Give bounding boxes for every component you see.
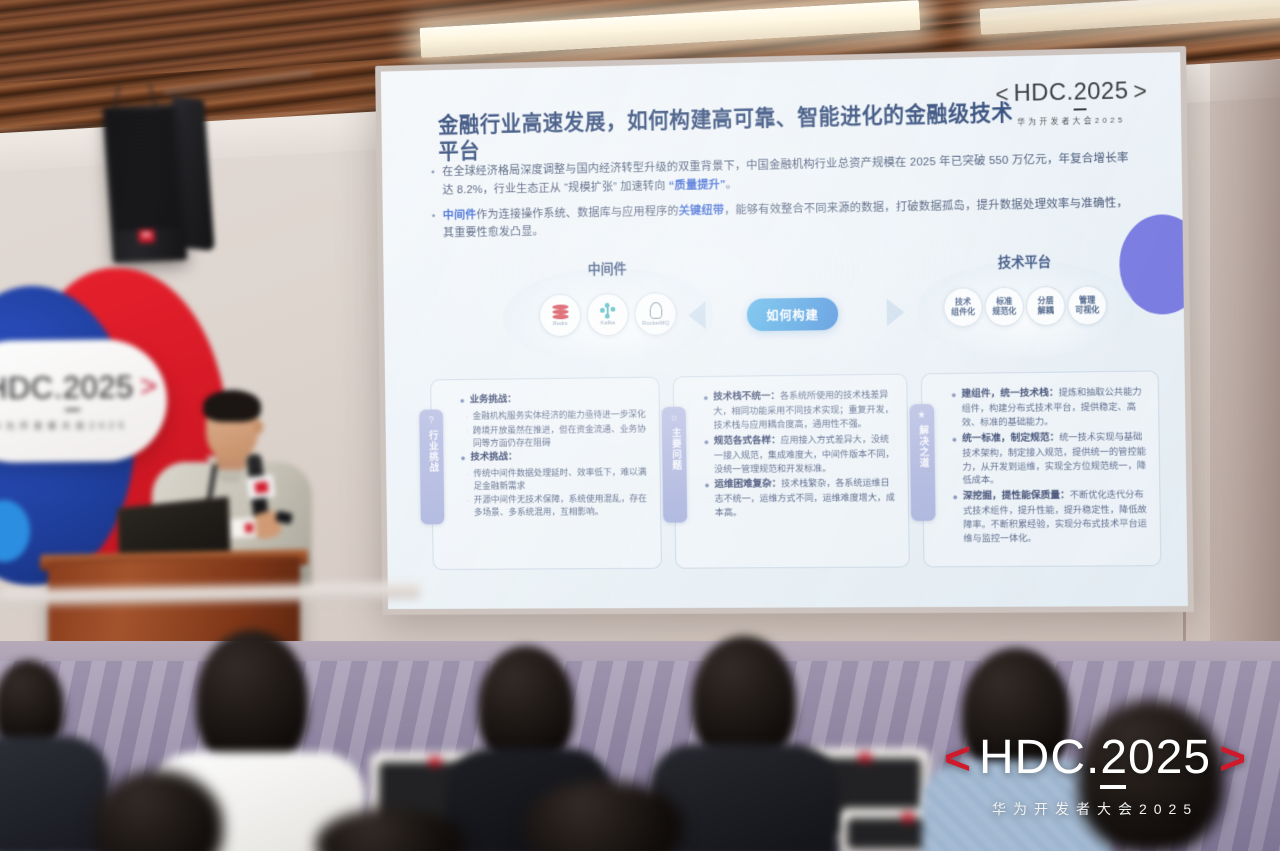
presentation-slide: 金融行业高速发展，如何构建高可靠、智能进化的金融级技术平台 < HDC.2025… <box>381 52 1188 609</box>
middleware-node: RocketMQ <box>634 292 677 336</box>
card-sub-text: 开源中间件无技术保障，系统使用混乱，存在多场景、多系统混用，互相影响。 <box>474 492 651 520</box>
card-tab: ?行业挑战 <box>419 409 444 524</box>
card-bullet-marker-icon: ● <box>704 479 710 521</box>
bullet-marker-icon: • <box>432 207 436 244</box>
card-tab: ☼主要问题 <box>662 407 688 523</box>
platform-node-label: 分层解耦 <box>1037 296 1053 315</box>
platform-node-label: 标准规范化 <box>992 297 1016 317</box>
platform-cloud-label-wrap: 技术平台 <box>916 249 1133 253</box>
projection-screen: 金融行业高速发展，如何构建高可靠、智能进化的金融级技术平台 < HDC.2025… <box>375 46 1194 615</box>
bracket-right-icon: > <box>1133 79 1147 102</box>
arrow-right-icon <box>887 298 905 326</box>
platform-cloud-label: 技术平台 <box>916 249 1133 272</box>
arrow-left-icon <box>688 301 706 329</box>
jbl-speaker: JBL <box>102 103 218 267</box>
slide-bullet: •中间件作为连接操作系统、数据库与应用程序的关键纽带，能够有效整合不同来源的数据… <box>432 194 1135 244</box>
microphone-logo-flag <box>247 474 275 499</box>
card-item: ●深挖掘，提性能保质量：不断优化迭代分布式技术组件，提升性能，提升稳定性，降低故… <box>952 489 1150 547</box>
slide-bullet-list: •在全球经济格局深度调整与国内经济转型升级的双重背景下，中国金融机构行业总资产规… <box>431 149 1135 250</box>
conference-photo-scene: JBL < HDC.2025 > 华为开发者大会2025 金融行业高速发展，如何… <box>0 0 1280 851</box>
platform-node: 分层解耦 <box>1026 286 1066 326</box>
slide-card: ★解决之道●建组件，统一技术栈：提炼和抽取公共能力组件，构建分布式技术平台，提供… <box>921 370 1162 567</box>
slide-card: ☼主要问题●技术栈不统一：各系统所使用的技术栈差异大，相同功能采用不同技术实现；… <box>673 374 909 569</box>
card-item-text: 技术挑战： <box>470 450 517 465</box>
backdrop-petal-2 <box>0 500 30 562</box>
card-sub-item: ·传统中间件数据处理延时、效率低下，难以满足金融新需求 <box>461 466 651 494</box>
middleware-cloud-label: 中间件 <box>502 256 712 279</box>
card-tab-icon: ☼ <box>670 414 679 424</box>
slide-card-row: ?行业挑战●业务挑战：·金融机构服务实体经济的能力亟待进一步深化·跨境开放虽然在… <box>430 370 1161 570</box>
card-sub-item: ·跨境开放虽然在推进，但在资金流通、业务协同等方面仍存在阻碍 <box>460 423 650 451</box>
hdc-wordmark: HDC.2025 <box>979 730 1211 785</box>
sub-bullet-marker-icon: · <box>467 494 470 520</box>
hdc-subtitle: 华为开发者大会2025 <box>996 114 1147 128</box>
bullet-marker-icon: • <box>431 164 435 201</box>
middleware-node: Kafka <box>586 293 629 337</box>
screen-frame: 金融行业高速发展，如何构建高可靠、智能进化的金融级技术平台 < HDC.2025… <box>375 46 1194 615</box>
card-item-text: 统一标准，制定规范：统一技术实现与基础技术架构，制定接入规范，提供统一的管控能力… <box>962 430 1149 488</box>
hdc-watermark: < HDC.2025 > 华为开发者大会2025 <box>944 730 1246 819</box>
card-item-text: 业务挑战： <box>469 393 516 408</box>
middleware-node-label: Redis <box>553 321 568 327</box>
card-item-text: 建组件，统一技术栈：提炼和抽取公共能力组件，构建分布式技术平台，提供稳定、高效、… <box>961 386 1148 431</box>
slide-diagram: 中间件 技术平台 RedisKafkaRocketMQ 技术组件化标准规范化分层… <box>449 249 1144 370</box>
card-bullet-marker-icon: ● <box>460 394 465 409</box>
card-sub-text: 跨境开放虽然在推进，但在资金流通、业务协同等方面仍存在阻碍 <box>473 423 650 451</box>
platform-node-label: 管理可视化 <box>1075 296 1100 316</box>
middleware-node-label: RocketMQ <box>642 320 669 326</box>
middleware-node-list: RedisKafkaRocketMQ <box>503 291 714 337</box>
hdc-subtitle: 华为开发者大会2025 <box>0 417 128 432</box>
card-item-text: 运维困难复杂：技术栈繁杂，各系统运维日志不统一，运维方式不同，运维难度增大，成本… <box>714 477 898 521</box>
slide-hdc-logo: < HDC.2025 > 华为开发者大会2025 <box>995 77 1147 128</box>
card-tab-label: 主要问题 <box>669 427 681 470</box>
sub-bullet-marker-icon: · <box>466 467 469 493</box>
card-tab-label: 解决之道 <box>916 425 928 469</box>
speaker-front-panel: JBL <box>102 104 187 263</box>
card-item: ●技术挑战： <box>460 449 650 465</box>
card-item: ●建组件，统一技术栈：提炼和抽取公共能力组件，构建分布式技术平台，提供稳定、高效… <box>951 386 1148 431</box>
kafka-icon <box>600 303 615 319</box>
card-item-text: 技术栈不统一：各系统所使用的技术栈差异大，相同功能采用不同技术实现；重复开发，技… <box>713 389 897 433</box>
card-tab-label: 行业挑战 <box>426 430 438 473</box>
bracket-left-icon: < <box>944 735 971 781</box>
platform-node: 标准规范化 <box>984 287 1024 327</box>
hdc-wordmark: HDC.2025 <box>1013 77 1128 107</box>
bracket-left-icon: < <box>995 83 1009 106</box>
wall-right-shadow <box>1210 60 1280 700</box>
huawei-logo-icon <box>902 813 914 822</box>
jbl-logo-icon: JBL <box>138 229 155 243</box>
bracket-right-icon: > <box>1219 735 1246 781</box>
card-item-text: 深挖掘，提性能保质量：不断优化迭代分布式技术组件，提升性能，提升稳定性，降低故障… <box>963 489 1150 547</box>
card-bullet-marker-icon: ● <box>703 391 709 433</box>
card-sub-item: ·开源中间件无技术保障，系统使用混乱，存在多场景、多系统混用，互相影响。 <box>461 492 651 520</box>
platform-node-list: 技术组件化标准规范化分层解耦管理可视化 <box>917 285 1134 328</box>
backdrop-hdc-sign: < HDC.2025 > 华为开发者大会2025 <box>0 339 168 463</box>
card-item: ●规范各式各样：应用接入方式差异大，没统一接入规范，集成难度大，中间件版本不同，… <box>704 433 898 477</box>
presenter-ear <box>254 420 263 434</box>
card-tab: ★解决之道 <box>909 404 935 521</box>
redis-icon <box>552 304 568 319</box>
card-tab-icon: ★ <box>917 411 926 421</box>
platform-node: 技术组件化 <box>943 287 983 327</box>
middleware-node-label: Kafka <box>600 320 615 326</box>
card-item: ●运维困难复杂：技术栈繁杂，各系统运维日志不统一，运维方式不同，运维难度增大，成… <box>704 477 898 521</box>
card-item: ●技术栈不统一：各系统所使用的技术栈差异大，相同功能采用不同技术实现；重复开发，… <box>703 389 897 433</box>
hdc-wordmark: HDC.2025 <box>0 369 134 407</box>
how-to-build-pill: 如何构建 <box>747 297 839 331</box>
middleware-node: Redis <box>539 294 581 338</box>
huawei-logo-icon <box>429 757 441 766</box>
card-bullet-marker-icon: ● <box>952 432 958 488</box>
card-bullet-marker-icon: ● <box>704 435 710 477</box>
platform-node: 管理可视化 <box>1067 285 1107 325</box>
bullet-text: 中间件作为连接操作系统、数据库与应用程序的关键纽带，能够有效整合不同来源的数据，… <box>443 194 1135 244</box>
card-sub-text: 传统中间件数据处理延时、效率低下，难以满足金融新需求 <box>473 466 650 494</box>
rocketmq-icon <box>649 302 662 319</box>
middleware-cloud-label-wrap: 中间件 <box>502 256 712 260</box>
hdc-subtitle: 华为开发者大会2025 <box>944 799 1246 819</box>
huawei-logo-icon <box>859 753 871 762</box>
platform-node-label: 技术组件化 <box>951 298 975 318</box>
card-bullet-marker-icon: ● <box>952 490 958 546</box>
card-item: ●统一标准，制定规范：统一技术实现与基础技术架构，制定接入规范，提供统一的管控能… <box>952 430 1150 488</box>
card-tab-icon: ? <box>429 416 434 426</box>
card-bullet-marker-icon: ● <box>460 451 465 466</box>
audience-member-head <box>196 630 308 770</box>
sub-bullet-marker-icon: · <box>466 410 468 425</box>
presenter-hair <box>203 390 261 422</box>
slide-card: ?行业挑战●业务挑战：·金融机构服务实体经济的能力亟待进一步深化·跨境开放虽然在… <box>430 377 662 570</box>
card-item: ●业务挑战： <box>460 391 650 408</box>
sub-bullet-marker-icon: · <box>466 425 469 451</box>
speaker-grille <box>108 109 180 230</box>
card-bullet-marker-icon: ● <box>951 388 957 430</box>
card-item-text: 规范各式各样：应用接入方式差异大，没统一接入规范，集成难度大，中间件版本不同，没… <box>714 433 898 477</box>
